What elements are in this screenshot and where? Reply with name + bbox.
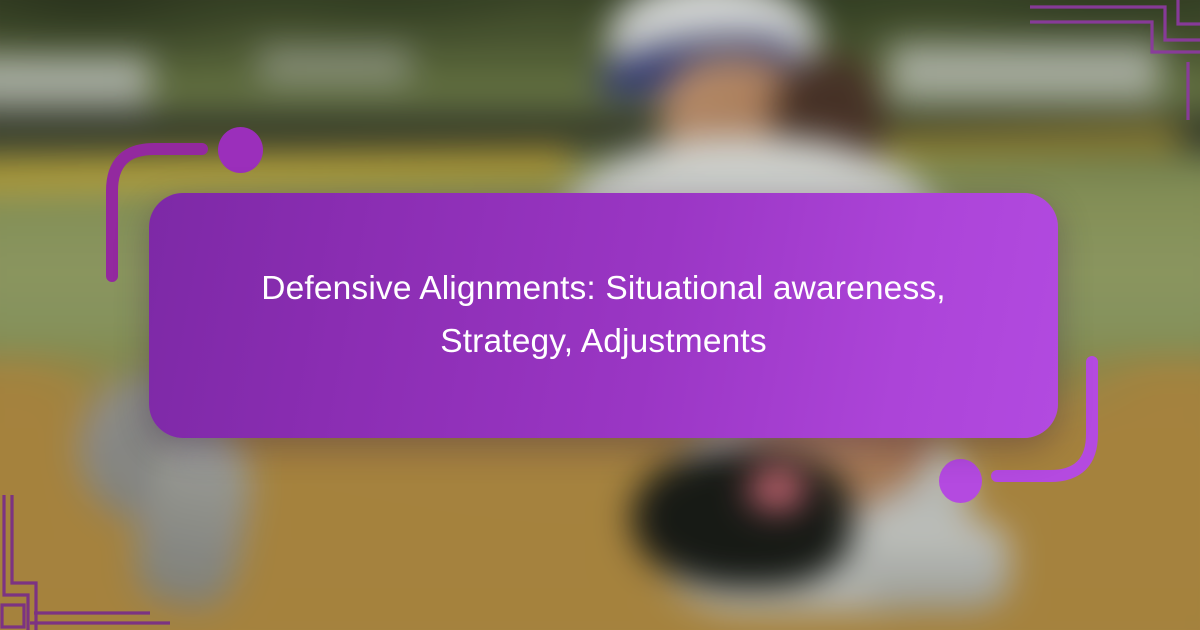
share-card-canvas: Defensive Alignments: Situational awaren…: [0, 0, 1200, 630]
accent-dot-bottom-right: [939, 459, 982, 503]
accent-dot-top-left: [218, 127, 263, 173]
title-card: Defensive Alignments: Situational awaren…: [149, 193, 1058, 438]
page-title: Defensive Alignments: Situational awaren…: [207, 263, 1000, 369]
